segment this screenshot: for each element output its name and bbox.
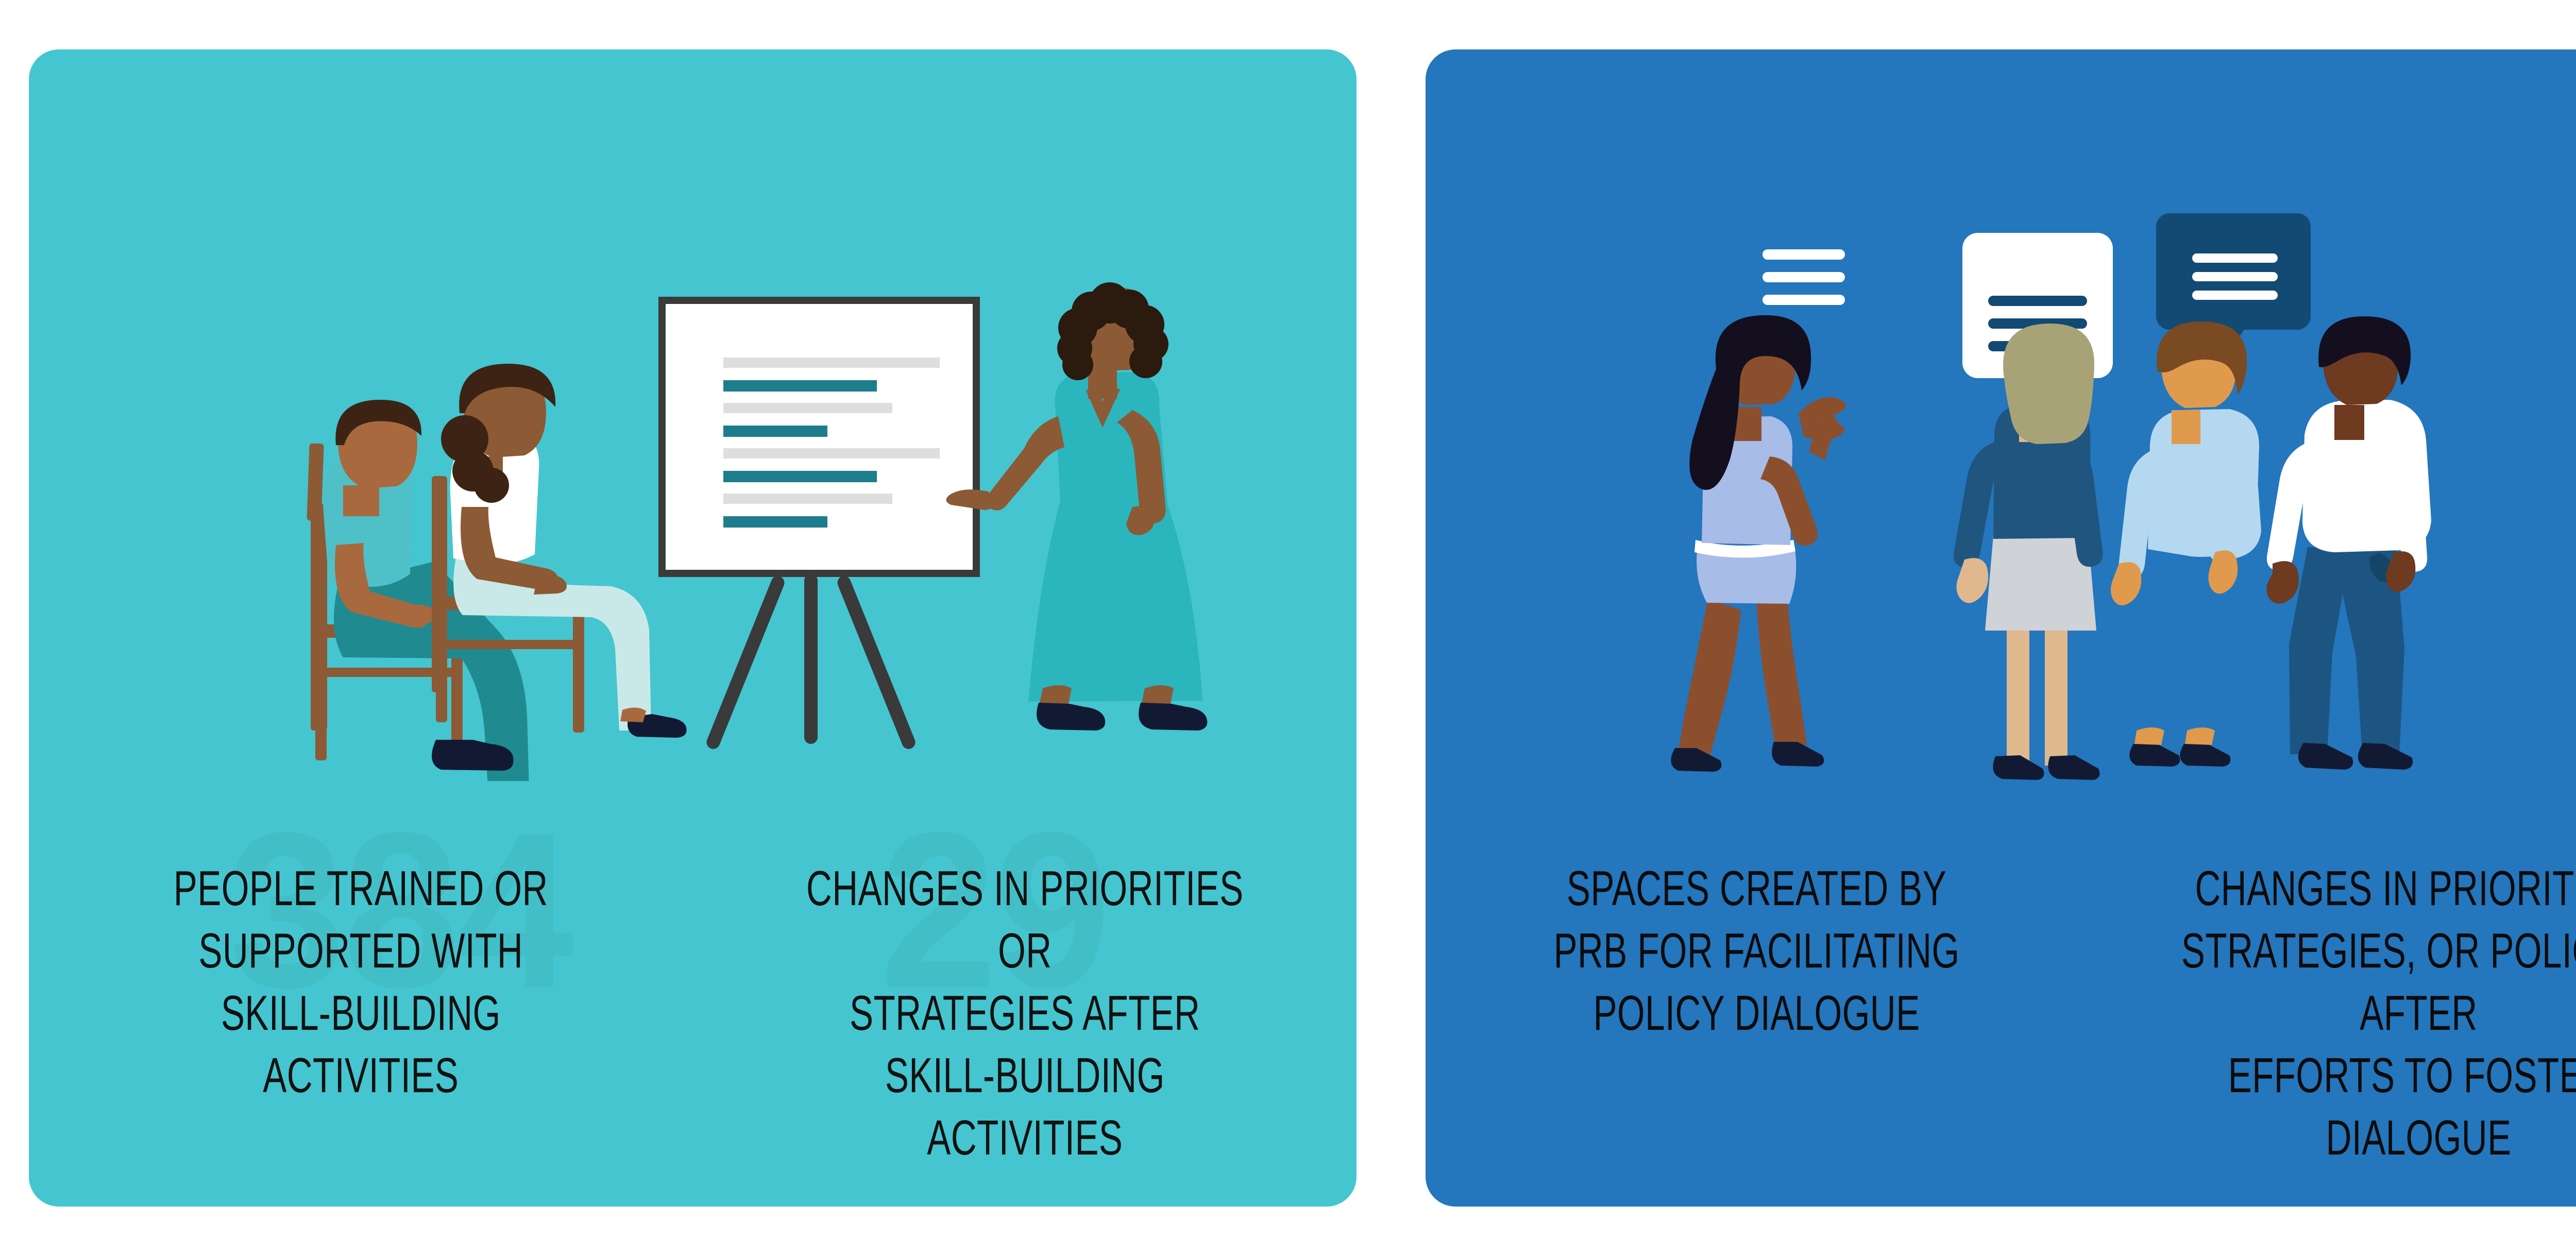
training-illustration	[29, 49, 1357, 781]
board-line-1	[723, 358, 940, 368]
woman-short-hair	[2111, 321, 2261, 767]
board-line-5	[723, 448, 940, 459]
board-line-4	[723, 426, 827, 437]
panel-skill-building: 384 29	[29, 49, 1357, 1207]
panel2-labels: SPACES CREATED BY PRB FOR FACILITATING P…	[1426, 858, 2576, 1169]
board-line-6	[723, 471, 877, 482]
stat-label-spaces-created: SPACES CREATED BY PRB FOR FACILITATING P…	[1518, 858, 1995, 1169]
infographic-board: 384 29	[0, 0, 2576, 1256]
board-line-7	[723, 494, 892, 504]
board-line-8	[723, 516, 827, 528]
stat-label-people-trained: PEOPLE TRAINED OR SUPPORTED WITH SKILL-B…	[122, 858, 600, 1169]
woman-dark-hair	[1671, 315, 1845, 772]
panel1-labels: PEOPLE TRAINED OR SUPPORTED WITH SKILL-B…	[29, 858, 1357, 1169]
woman-blonde-back	[1954, 324, 2103, 780]
standing-presenter	[946, 282, 1207, 731]
board-line-3	[723, 403, 892, 413]
board-line-2	[723, 380, 877, 392]
panel-policy-dialogue: SPACES CREATED BY PRB FOR FACILITATING P…	[1426, 49, 2576, 1207]
whiteboard-on-tripod	[658, 297, 980, 751]
man-white-shirt	[2266, 316, 2431, 770]
stat-label-changes-dialogue: CHANGES IN PRIORITIES, STRATEGIES, OR PO…	[2180, 858, 2576, 1169]
seated-woman	[432, 364, 687, 738]
stat-label-changes-skill: CHANGES IN PRIORITIES OR STRATEGIES AFTE…	[786, 858, 1264, 1169]
speech-lines-icon	[1762, 249, 1845, 305]
dialogue-illustration	[1426, 49, 2576, 781]
